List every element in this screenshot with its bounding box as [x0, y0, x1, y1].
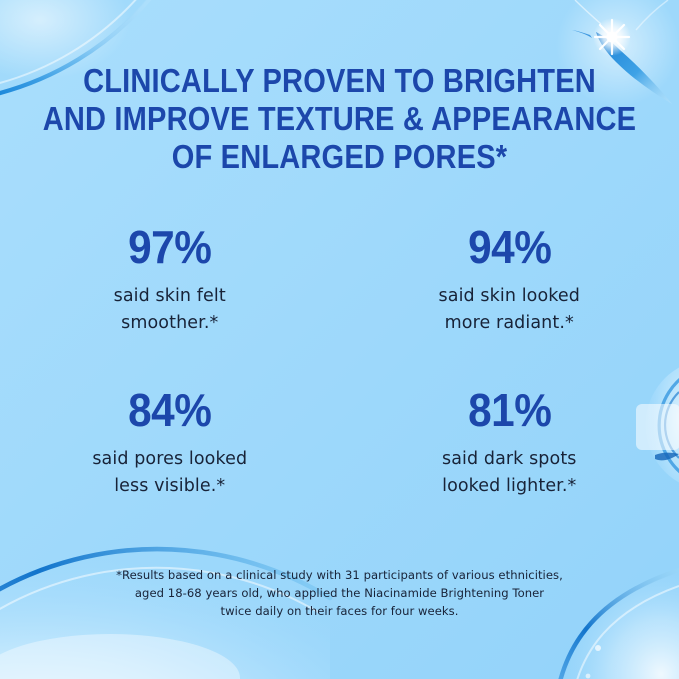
stat-block-skin-felt-smoother: 97% said skin felt smoother.*: [0, 222, 340, 337]
headline-line-3: OF ENLARGED PORES*: [41, 138, 639, 176]
stat-description-line-2: smoother.*: [0, 310, 340, 337]
headline-line-2: AND IMPROVE TEXTURE & APPEARANCE: [41, 100, 639, 138]
stat-description: said skin looked more radiant.*: [340, 283, 679, 337]
statistics-grid: 97% said skin felt smoother.* 94% said s…: [0, 222, 679, 500]
disclaimer-footnote: *Results based on a clinical study with …: [0, 566, 679, 620]
stat-value: 84%: [14, 385, 326, 435]
poster-canvas: CLINICALLY PROVEN TO BRIGHTEN AND IMPROV…: [0, 0, 679, 679]
headline-line-1: CLINICALLY PROVEN TO BRIGHTEN: [41, 62, 639, 100]
stat-value: 94%: [353, 222, 665, 272]
stat-block-pores-less-visible: 84% said pores looked less visible.*: [0, 385, 340, 500]
stat-description: said pores looked less visible.*: [0, 446, 340, 500]
disclaimer-line-3: twice daily on their faces for four week…: [0, 602, 679, 620]
stat-description-line-1: said dark spots: [340, 446, 679, 473]
disclaimer-line-2: aged 18-68 years old, who applied the Ni…: [0, 584, 679, 602]
stat-description-line-1: said skin looked: [340, 283, 679, 310]
stat-description-line-2: more radiant.*: [340, 310, 679, 337]
stat-description-line-2: looked lighter.*: [340, 473, 679, 500]
stat-description: said dark spots looked lighter.*: [340, 446, 679, 500]
stat-value: 81%: [353, 385, 665, 435]
stat-description: said skin felt smoother.*: [0, 283, 340, 337]
stat-value: 97%: [14, 222, 326, 272]
stat-block-skin-looked-more-radiant: 94% said skin looked more radiant.*: [340, 222, 679, 337]
stat-description-line-2: less visible.*: [0, 473, 340, 500]
stat-description-line-1: said pores looked: [0, 446, 340, 473]
poster-content: CLINICALLY PROVEN TO BRIGHTEN AND IMPROV…: [0, 0, 679, 679]
stat-description-line-1: said skin felt: [0, 283, 340, 310]
headline: CLINICALLY PROVEN TO BRIGHTEN AND IMPROV…: [41, 62, 639, 176]
stat-block-dark-spots-lighter: 81% said dark spots looked lighter.*: [340, 385, 679, 500]
disclaimer-line-1: *Results based on a clinical study with …: [0, 566, 679, 584]
